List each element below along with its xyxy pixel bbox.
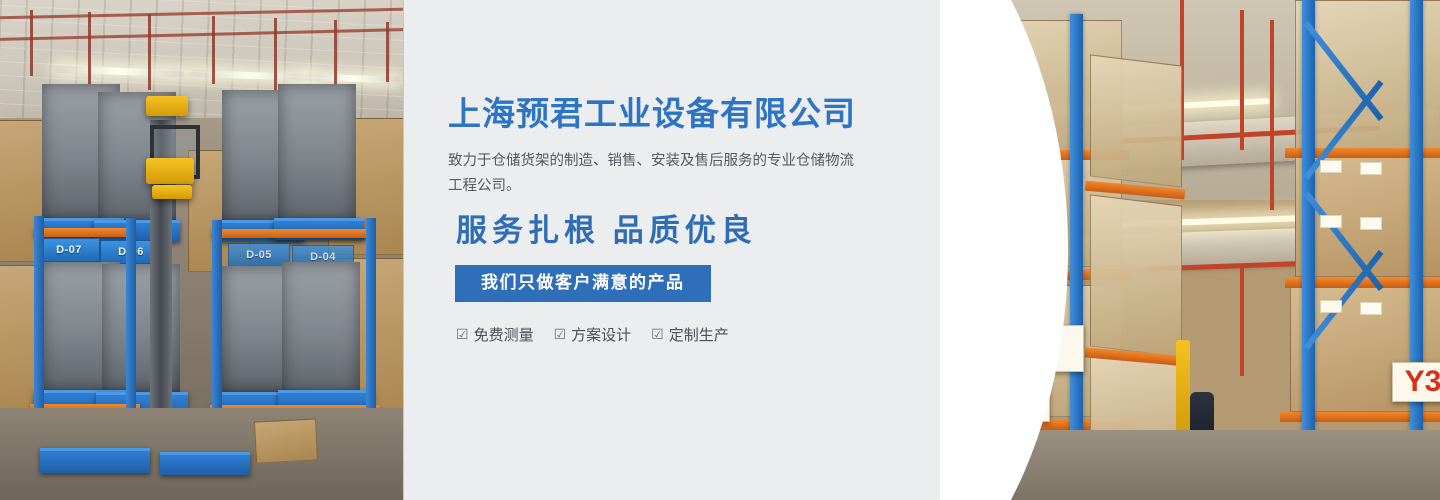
company-subtitle: 致力于仓储货架的制造、销售、安装及售后服务的专业仓储物流工程公司。 xyxy=(448,149,864,199)
blue-pallet xyxy=(160,452,250,475)
stacker-platform xyxy=(146,158,194,184)
stacker-base xyxy=(152,185,192,199)
rack-beam xyxy=(34,228,134,237)
rack-sign-label: D-05 xyxy=(246,249,272,261)
blue-pallet xyxy=(40,448,150,473)
check-box-icon: ☑ xyxy=(456,327,469,341)
right-warehouse-photo: 安全来于警惕。 事故出于麻痹。 Y3 Y3 xyxy=(940,0,1440,500)
rack-beam xyxy=(212,229,372,238)
feature-item-custom-production: ☑ 定制生产 xyxy=(651,324,729,345)
pallet-load xyxy=(1090,54,1182,187)
pallet-load xyxy=(1090,194,1182,357)
ceiling-hanger xyxy=(30,10,33,76)
company-title: 上海预君工业设备有限公司 xyxy=(448,96,918,132)
stacker-arm xyxy=(146,96,188,116)
sprinkler-pipe xyxy=(1270,20,1274,210)
ceiling-hanger xyxy=(88,12,91,84)
slogan-text: 服务扎根 品质优良 xyxy=(456,212,918,249)
feature-label: 定制生产 xyxy=(669,324,729,345)
rack-upright xyxy=(1070,14,1083,484)
feature-item-plan-design: ☑ 方案设计 xyxy=(554,324,632,345)
ceiling-hanger xyxy=(212,16,215,84)
ceiling-hanger xyxy=(334,20,337,86)
check-box-icon: ☑ xyxy=(651,327,664,341)
ceiling-hanger xyxy=(386,22,389,82)
ceiling-hanger xyxy=(274,18,277,90)
cta-button[interactable]: 我们只做客户满意的产品 xyxy=(455,265,711,301)
rack-upright xyxy=(1410,0,1423,480)
promo-banner: D-07 D-06 D-05 D-04 xyxy=(0,0,1440,500)
aisle-label-text: Y3 xyxy=(1405,365,1440,399)
shelf-label xyxy=(1360,302,1382,315)
crate-stack xyxy=(278,84,356,222)
feature-label: 免费测量 xyxy=(474,324,534,345)
feature-list: ☑ 免费测量 ☑ 方案设计 ☑ 定制生产 xyxy=(456,324,918,345)
shelf-label xyxy=(1360,162,1382,175)
left-warehouse-photo: D-07 D-06 D-05 D-04 xyxy=(0,0,403,500)
center-panel: 上海预君工业设备有限公司 致力于仓储货架的制造、销售、安装及售后服务的专业仓储物… xyxy=(403,0,940,500)
feature-item-free-measure: ☑ 免费测量 xyxy=(456,324,534,345)
aisle-label-sign: Y3 xyxy=(1392,362,1440,402)
ceiling-hanger xyxy=(148,14,151,90)
rack-sign-label: D-07 xyxy=(56,244,82,256)
shelf-label xyxy=(1320,300,1342,313)
rack-upright xyxy=(1302,0,1315,480)
shelf-label xyxy=(1320,160,1342,173)
shelf-label xyxy=(1360,217,1382,230)
crate-stack xyxy=(282,262,360,394)
rack-sign: D-05 xyxy=(228,243,290,267)
shelf-label xyxy=(1320,215,1342,228)
floor-carton xyxy=(254,418,318,463)
check-box-icon: ☑ xyxy=(554,327,567,341)
sprinkler-pipe xyxy=(1240,10,1244,150)
banner-content: 上海预君工业设备有限公司 致力于仓储货架的制造、销售、安装及售后服务的专业仓储物… xyxy=(448,96,918,345)
sprinkler-pipe xyxy=(1240,266,1244,376)
feature-label: 方案设计 xyxy=(571,324,631,345)
rack-sign: D-07 xyxy=(38,238,100,262)
